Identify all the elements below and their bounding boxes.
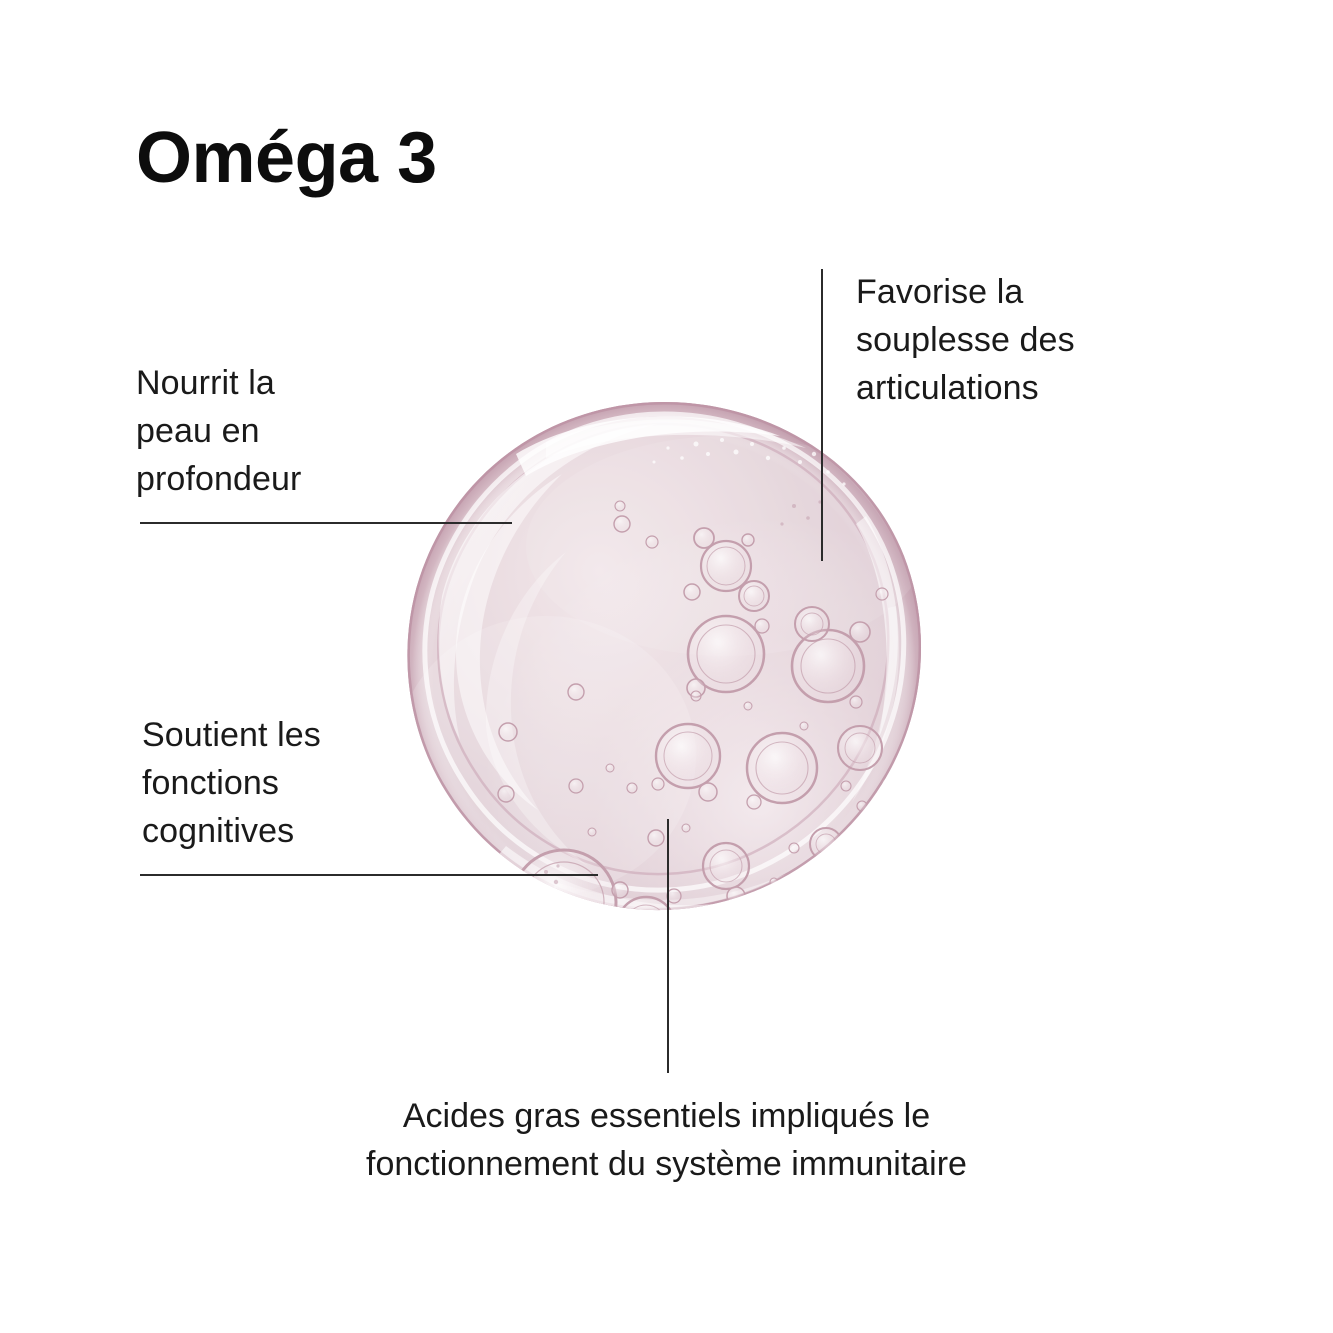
callout-immune-line-1: Acides gras essentiels impliqués le [0, 1092, 1333, 1140]
callout-skin-line-2: peau en [136, 407, 301, 455]
callout-skin-line-3: profondeur [136, 455, 301, 503]
callout-joints-line-2: souplesse des [856, 316, 1075, 364]
leader-line-cognitive [140, 874, 598, 876]
callout-immune: Acides gras essentiels impliqués le fonc… [0, 1092, 1333, 1188]
callout-skin: Nourrit la peau en profondeur [136, 359, 301, 503]
callout-joints-line-1: Favorise la [856, 268, 1075, 316]
infographic-canvas: Oméga 3 [0, 0, 1333, 1333]
callout-joints-line-3: articulations [856, 364, 1075, 412]
leader-line-skin [140, 522, 512, 524]
leader-line-immune [667, 819, 669, 1073]
callout-cognitive: Soutient les fonctions cognitives [142, 711, 321, 855]
callout-skin-line-1: Nourrit la [136, 359, 301, 407]
leader-line-joints [821, 269, 823, 561]
callout-cognitive-line-1: Soutient les [142, 711, 321, 759]
page-title: Oméga 3 [136, 122, 437, 194]
callout-cognitive-line-2: fonctions [142, 759, 321, 807]
callout-joints: Favorise la souplesse des articulations [856, 268, 1075, 412]
serum-droplet-illustration [396, 396, 932, 944]
callout-immune-line-2: fonctionnement du système immunitaire [0, 1140, 1333, 1188]
callout-cognitive-line-3: cognitives [142, 807, 321, 855]
